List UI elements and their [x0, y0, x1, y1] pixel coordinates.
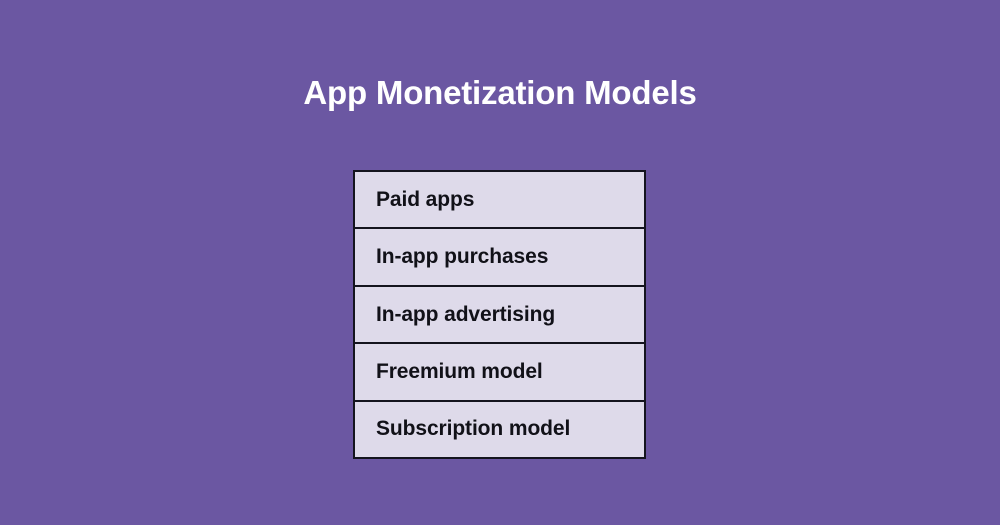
list-item[interactable]: In-app purchases	[355, 229, 644, 286]
list-item[interactable]: Paid apps	[355, 172, 644, 229]
list-item-label: Freemium model	[376, 360, 543, 384]
list-item[interactable]: In-app advertising	[355, 287, 644, 344]
list-item[interactable]: Subscription model	[355, 402, 644, 457]
list-item-label: In-app advertising	[376, 303, 555, 327]
list-item[interactable]: Freemium model	[355, 344, 644, 401]
monetization-models-list: Paid apps In-app purchases In-app advert…	[353, 170, 646, 459]
list-item-label: Paid apps	[376, 188, 474, 212]
slide-canvas: App Monetization Models Paid apps In-app…	[0, 0, 1000, 525]
list-item-label: Subscription model	[376, 417, 570, 441]
page-title: App Monetization Models	[0, 70, 1000, 116]
list-item-label: In-app purchases	[376, 245, 548, 269]
